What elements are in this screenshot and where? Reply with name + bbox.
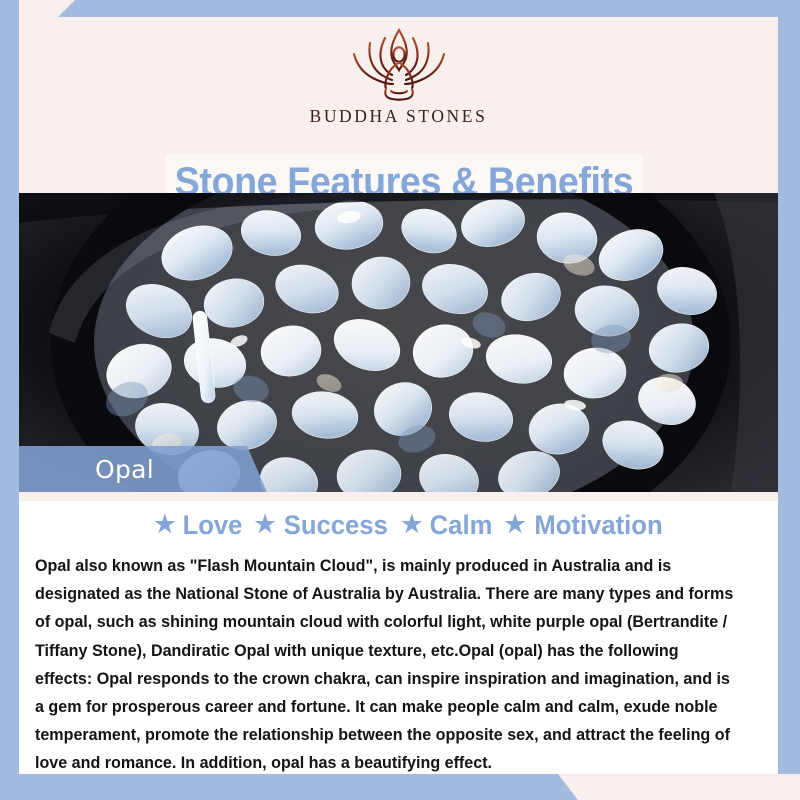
star-icon: ★: [153, 511, 177, 538]
right-accent-strip: [778, 0, 800, 800]
stone-name: Opal: [95, 455, 154, 484]
product-photo: Opal: [19, 193, 778, 492]
star-icon: ★: [253, 511, 277, 538]
lotus-meditation-icon: [340, 24, 458, 104]
header: BUDDHA STONES Stone Features & Benefits: [19, 17, 778, 193]
benefit-item: ★ Calm: [400, 510, 494, 541]
content-panel: ★ Love ★ Success ★ Calm ★ Motivation Opa…: [19, 492, 778, 774]
infographic-page: BUDDHA STONES Stone Features & Benefits: [0, 0, 800, 800]
bottom-right-cream-wedge: [555, 774, 800, 800]
benefit-label: Motivation: [535, 510, 663, 541]
benefit-item: ★ Success: [253, 510, 391, 541]
benefit-item: ★ Love: [153, 510, 244, 541]
top-accent-band: [0, 0, 800, 17]
benefit-label: Calm: [430, 510, 493, 541]
brand-logo: BUDDHA STONES: [19, 24, 778, 127]
stone-name-banner: Opal: [19, 446, 267, 492]
benefit-label: Love: [183, 510, 243, 541]
benefit-label: Success: [284, 510, 388, 541]
panel-top-strip: [19, 492, 778, 501]
benefits-row: ★ Love ★ Success ★ Calm ★ Motivation: [19, 510, 778, 541]
brand-name: BUDDHA STONES: [310, 106, 488, 127]
star-icon: ★: [503, 511, 527, 538]
left-accent-strip: [0, 0, 19, 800]
benefit-item: ★ Motivation: [503, 510, 666, 541]
star-icon: ★: [400, 511, 424, 538]
stone-description: Opal also known as "Flash Mountain Cloud…: [35, 552, 739, 778]
